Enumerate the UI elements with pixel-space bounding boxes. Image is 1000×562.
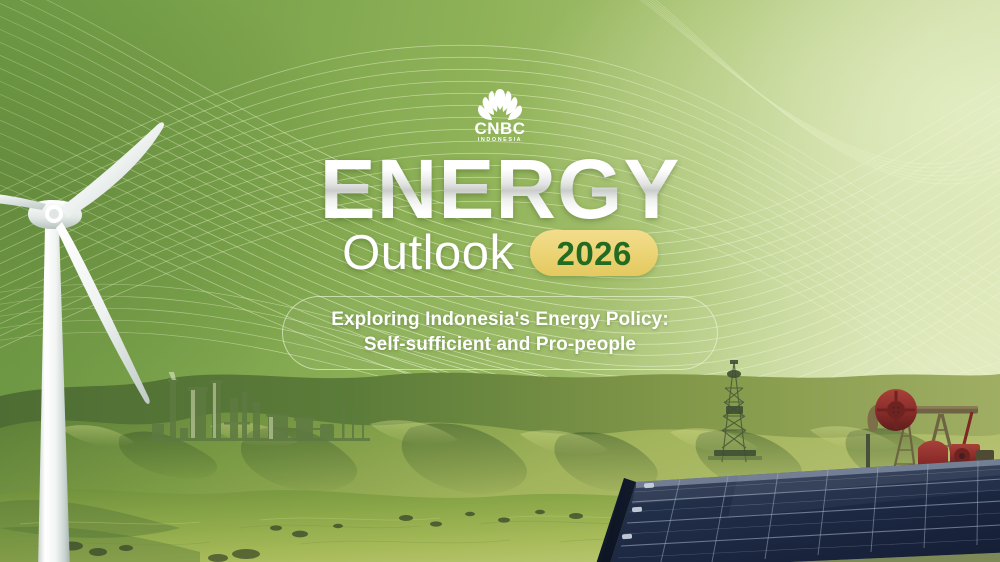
headline-subrow: Outlook 2026 (342, 226, 658, 280)
cnbc-peacock-logo: CNBC INDONESIA (461, 86, 539, 142)
solar-panel-array (588, 452, 1000, 562)
headline-outlook: Outlook (342, 229, 514, 278)
year-badge: 2026 (530, 230, 657, 276)
headline-energy: ENERGY (320, 148, 681, 230)
tagline-pill: Exploring Indonesia's Energy Policy: Sel… (282, 296, 718, 370)
tagline-line-2: Self-sufficient and Pro-people (331, 332, 669, 357)
cnbc-wordmark: CNBC (474, 119, 525, 138)
banner-content: CNBC INDONESIA ENERGY Outlook 2026 Explo… (0, 0, 1000, 370)
year-label: 2026 (556, 237, 631, 270)
tagline-line-1: Exploring Indonesia's Energy Policy: (331, 307, 669, 332)
energy-outlook-banner: CNBC INDONESIA ENERGY Outlook 2026 Explo… (0, 0, 1000, 562)
